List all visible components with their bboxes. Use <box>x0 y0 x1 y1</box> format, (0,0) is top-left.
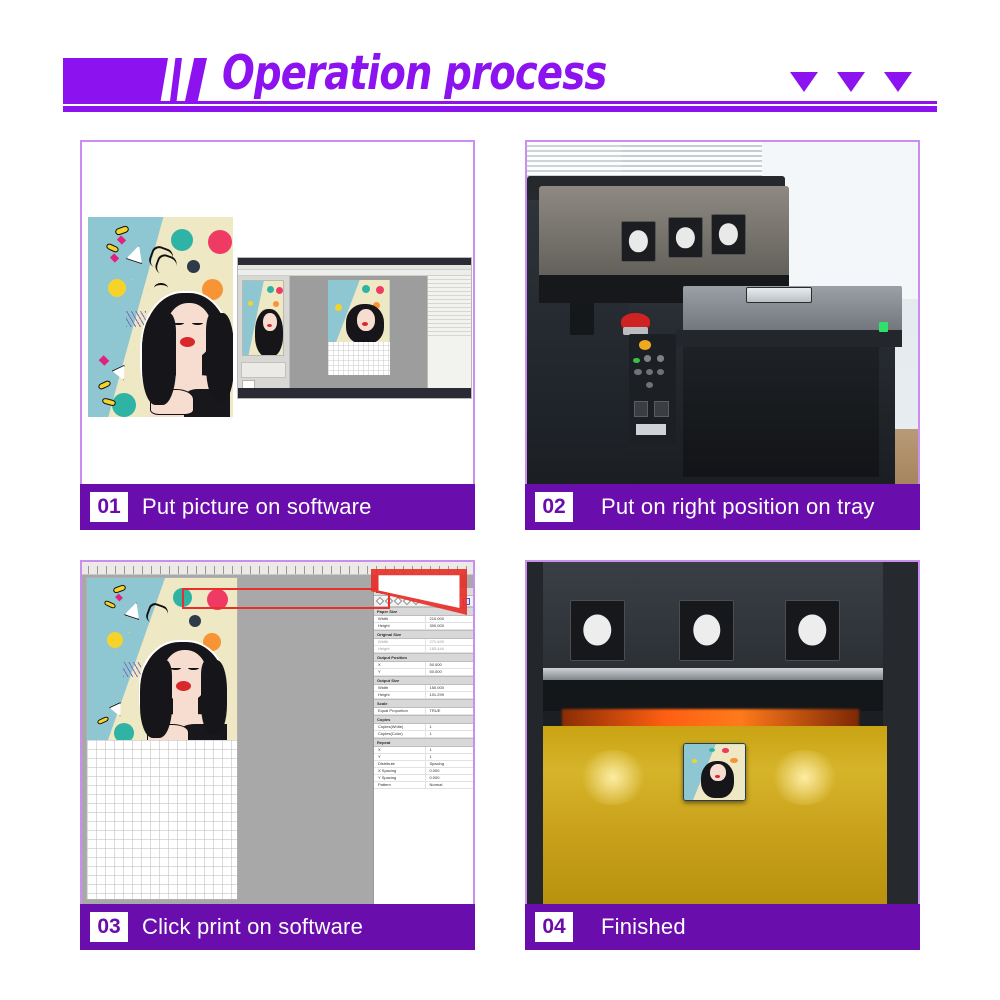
control-button[interactable] <box>657 369 665 376</box>
software-page[interactable] <box>328 280 390 375</box>
property-row[interactable]: Height183.444 <box>374 646 473 653</box>
layout-properties-panel[interactable]: Layout Paper SizeWidth210.000Height300.0… <box>373 588 473 904</box>
artwork-arc <box>154 283 168 293</box>
property-key: Equal Proportion <box>374 708 425 714</box>
thumb-woman-face <box>263 313 277 331</box>
property-key: Y <box>374 669 425 675</box>
step-caption-text: Click print on software <box>142 914 363 940</box>
property-key: Height <box>374 692 425 698</box>
triangle-down-icon <box>837 72 865 92</box>
step-number-badge: 03 <box>90 912 128 942</box>
artwork-woman-lips <box>180 337 195 347</box>
property-value[interactable]: 150.000 <box>425 685 473 691</box>
property-value[interactable]: Spacing <box>425 761 473 767</box>
control-button[interactable] <box>644 355 652 362</box>
step-number-badge: 04 <box>535 912 573 942</box>
step-01-caption: 01 Put picture on software <box>80 484 475 530</box>
status-led-green <box>633 358 640 363</box>
step-caption-text: Finished <box>587 914 686 940</box>
cooling-fan-icon <box>711 214 746 255</box>
software-window-thumbnail[interactable] <box>237 257 472 399</box>
property-row[interactable]: Copies(Color)1 <box>374 731 473 738</box>
print-highlight-box <box>182 588 390 609</box>
header-rule-thick <box>63 106 937 112</box>
case-dot <box>722 748 729 752</box>
software-canvas-large[interactable]: Layout Paper SizeWidth210.000Height300.0… <box>82 575 473 904</box>
thumb-dot <box>248 301 253 306</box>
property-key: Width <box>374 616 425 622</box>
software-statusbar <box>238 388 471 398</box>
property-row[interactable]: Y Spacing0.000 <box>374 775 473 782</box>
step-04-image <box>525 560 920 904</box>
tray-indicator-green <box>879 322 888 332</box>
triangle-down-icon <box>884 72 912 92</box>
page-header: Operation process <box>0 0 1000 120</box>
steps-grid: 01 Put picture on software <box>80 140 920 950</box>
case-dot <box>730 758 737 763</box>
artwork-popart <box>88 217 233 417</box>
canvas-woman-face <box>357 309 375 331</box>
printer-tray-edge <box>676 330 903 347</box>
thumb-dot <box>276 287 283 294</box>
property-group-header: Output Size <box>374 676 473 685</box>
property-key: Width <box>374 685 425 691</box>
property-row[interactable]: Y50.000 <box>374 669 473 676</box>
property-value[interactable]: 1 <box>425 747 473 753</box>
artwork-woman-neck <box>176 355 202 377</box>
control-button[interactable] <box>657 355 665 362</box>
artwork-dot <box>171 229 193 251</box>
step-caption-text: Put picture on software <box>142 494 372 520</box>
step-caption-text: Put on right position on tray <box>587 494 875 520</box>
step-03-image: Layout Paper SizeWidth210.000Height300.0… <box>80 560 475 904</box>
step-number-badge: 02 <box>535 492 573 522</box>
software-canvas[interactable] <box>290 276 427 388</box>
control-button[interactable] <box>646 369 654 376</box>
property-row[interactable]: Height300.000 <box>374 623 473 630</box>
software-titlebar <box>238 258 471 265</box>
step-card-04: 04 Finished <box>525 560 920 950</box>
cooling-fan-icon <box>668 217 703 258</box>
property-row[interactable]: X Spacing0.000 <box>374 768 473 775</box>
property-value[interactable]: 0.000 <box>425 775 473 781</box>
property-value[interactable]: 50.000 <box>425 669 473 675</box>
thumb-woman-lips <box>267 324 272 327</box>
canvas-dot <box>362 285 370 293</box>
step-card-01: 01 Put picture on software <box>80 140 475 530</box>
artwork-dot <box>112 393 136 417</box>
page-woman-hair-front <box>140 660 172 738</box>
cooling-fan-icon <box>679 600 734 662</box>
header-accent-block <box>63 58 168 101</box>
property-row[interactable]: X50.000 <box>374 662 473 669</box>
page-dot <box>107 632 123 648</box>
cooling-fan-icon <box>785 600 840 662</box>
printer-lower-cavity <box>683 347 879 477</box>
property-key: Height <box>374 623 425 629</box>
property-row[interactable]: Width210.000 <box>374 616 473 623</box>
property-key: Copies(White) <box>374 724 425 730</box>
poster-root: Operation process <box>0 0 1000 1000</box>
header-slash-thick-icon <box>185 58 207 101</box>
page-woman-hair-back <box>201 660 227 734</box>
header-slash-thin-icon <box>170 58 182 101</box>
printed-phone-case <box>683 743 746 801</box>
control-button[interactable] <box>646 382 654 389</box>
case-woman-lips <box>715 775 720 778</box>
printer-side-panel-left <box>527 562 543 904</box>
property-row[interactable]: Width271.639 <box>374 639 473 646</box>
page-title: Operation process <box>222 50 606 97</box>
property-value[interactable]: Normal <box>425 782 473 788</box>
case-woman-face <box>710 764 726 781</box>
step-04-caption: 04 Finished <box>525 904 920 950</box>
case-dot <box>692 759 697 763</box>
cooling-fan-icon <box>570 600 625 662</box>
property-group-header: Repeat <box>374 738 473 747</box>
property-row[interactable]: Equal ProportionTRUE <box>374 708 473 715</box>
printer-control-panel[interactable] <box>629 334 676 443</box>
property-value[interactable]: 300.000 <box>425 623 473 629</box>
property-value[interactable]: 183.444 <box>425 646 473 652</box>
step-card-02: 02 Put on right position on tray <box>525 140 920 530</box>
artwork-dot <box>208 230 232 254</box>
artwork-dot <box>187 260 200 273</box>
property-row[interactable]: Width150.000 <box>374 685 473 692</box>
property-row[interactable]: Height101.299 <box>374 692 473 699</box>
page-woman-eye <box>188 666 199 670</box>
property-key: Height <box>374 646 425 652</box>
artwork-woman-eye <box>192 321 203 325</box>
property-key: Pattern <box>374 782 425 788</box>
property-key: Width <box>374 639 425 645</box>
property-value[interactable]: 101.299 <box>425 692 473 698</box>
property-key: Y <box>374 754 425 760</box>
page-woman-eye <box>170 666 181 670</box>
property-value[interactable]: 1 <box>425 724 473 730</box>
property-row[interactable]: Copies(White)1 <box>374 724 473 731</box>
property-group-header: Copies <box>374 715 473 724</box>
page-woman-lips <box>176 681 191 691</box>
phone-case-on-tray <box>746 287 812 302</box>
canvas-dot <box>335 304 342 311</box>
page-dot <box>114 723 134 740</box>
printer-shadow-band <box>543 680 883 711</box>
property-row[interactable]: PatternNormal <box>374 782 473 789</box>
property-key: Y Spacing <box>374 775 425 781</box>
header-triangles <box>790 72 912 92</box>
step-01-image <box>80 140 475 484</box>
bed-reflection-glow <box>769 750 839 805</box>
thumb-dot <box>267 286 274 293</box>
status-led-amber <box>639 340 651 350</box>
property-value[interactable]: 210.000 <box>425 616 473 622</box>
case-dot <box>709 748 715 752</box>
cooling-fan-icon <box>621 221 656 262</box>
step-02-image <box>525 140 920 484</box>
thumb-dot <box>273 301 279 307</box>
triangle-down-icon <box>790 72 818 92</box>
property-group-header: Original Size <box>374 630 473 639</box>
property-key: Distribute <box>374 761 425 767</box>
canvas-woman-lips <box>362 322 368 326</box>
control-button[interactable] <box>634 369 642 376</box>
software-page-large[interactable] <box>86 577 238 900</box>
header-rule-thin <box>63 101 937 104</box>
property-group-header: Output Position <box>374 653 473 662</box>
property-group-header: Scale <box>374 699 473 708</box>
property-value[interactable]: 50.000 <box>425 662 473 668</box>
property-key: X <box>374 662 425 668</box>
property-value[interactable]: 271.639 <box>425 639 473 645</box>
property-value[interactable]: 1 <box>425 754 473 760</box>
property-key: X Spacing <box>374 768 425 774</box>
bed-reflection-glow <box>578 750 648 805</box>
property-key: Copies(Color) <box>374 731 425 737</box>
canvas-dot <box>376 286 384 294</box>
step-03-caption: 03 Click print on software <box>80 904 475 950</box>
software-body <box>238 276 471 388</box>
artwork-woman-hair-front <box>142 313 176 405</box>
printer-light-strip <box>543 668 883 680</box>
step-card-03: Layout Paper SizeWidth210.000Height300.0… <box>80 560 475 950</box>
property-row[interactable]: DistributeSpacing <box>374 761 473 768</box>
printer-side-panel-right <box>883 562 918 904</box>
printer-gantry <box>539 186 789 289</box>
property-row[interactable]: Y1 <box>374 754 473 761</box>
page-hatch <box>123 662 141 677</box>
software-thumbnail-pane[interactable] <box>238 276 290 388</box>
step-02-caption: 02 Put on right position on tray <box>525 484 920 530</box>
property-row[interactable]: X1 <box>374 747 473 754</box>
software-properties-pane[interactable] <box>427 276 471 388</box>
property-key: X <box>374 747 425 753</box>
property-value[interactable]: TRUE <box>425 708 473 714</box>
artwork-woman-hair-back <box>206 313 233 401</box>
property-value[interactable]: 0.000 <box>425 768 473 774</box>
step-number-badge: 01 <box>90 492 128 522</box>
property-value[interactable]: 1 <box>425 731 473 737</box>
layout-properties-list: Paper SizeWidth210.000Height300.000Origi… <box>374 607 473 789</box>
page-dot <box>189 615 201 627</box>
